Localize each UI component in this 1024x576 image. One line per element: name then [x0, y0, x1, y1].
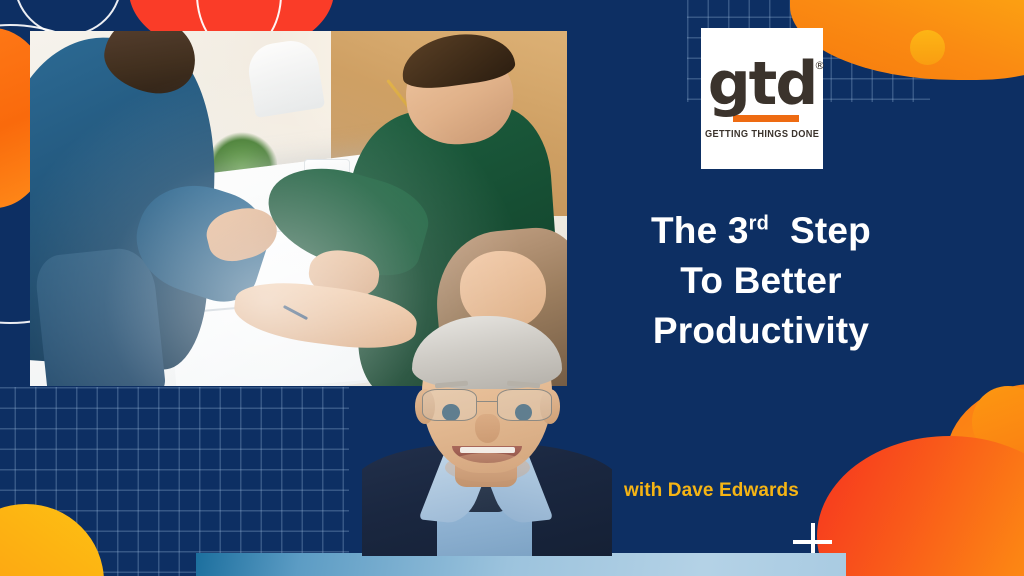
- gtd-logo: gtd ® GETTING THINGS DONE: [701, 28, 823, 169]
- presenter-portrait: [362, 311, 612, 556]
- presenter-lens-right: [497, 389, 552, 421]
- presenter-lens-left: [422, 389, 477, 421]
- page-title: The 3rd Step To Better Productivity: [596, 206, 926, 356]
- title-line-1-suffix: Step: [769, 210, 871, 251]
- title-line-2: To Better: [596, 256, 926, 306]
- title-ordinal-suffix: rd: [749, 213, 769, 235]
- title-line-1: The 3rd Step: [596, 206, 926, 256]
- orange-circle-top-right: [910, 30, 945, 65]
- presenter-byline: with Dave Edwards: [624, 480, 799, 502]
- gtd-tagline: GETTING THINGS DONE: [705, 129, 819, 140]
- orange-circle-bottom-left: [0, 504, 104, 576]
- registered-trademark-icon: ®: [814, 61, 825, 71]
- presenter-hair: [412, 316, 562, 390]
- presenter-glasses-bridge: [477, 401, 498, 403]
- gtd-wordmark: gtd ®: [708, 57, 817, 112]
- presenter-chin: [445, 453, 530, 482]
- gtd-wordmark-text: gtd: [708, 49, 817, 119]
- title-line-1-prefix: The 3: [651, 210, 749, 251]
- presenter-nose: [475, 414, 500, 443]
- title-line-3: Productivity: [596, 306, 926, 356]
- bottom-accent-panel: [196, 553, 846, 576]
- webinar-slide: gtd ® GETTING THINGS DONE The 3rd Step T…: [0, 0, 1024, 576]
- red-orange-blob-bottom-right: [817, 436, 1024, 576]
